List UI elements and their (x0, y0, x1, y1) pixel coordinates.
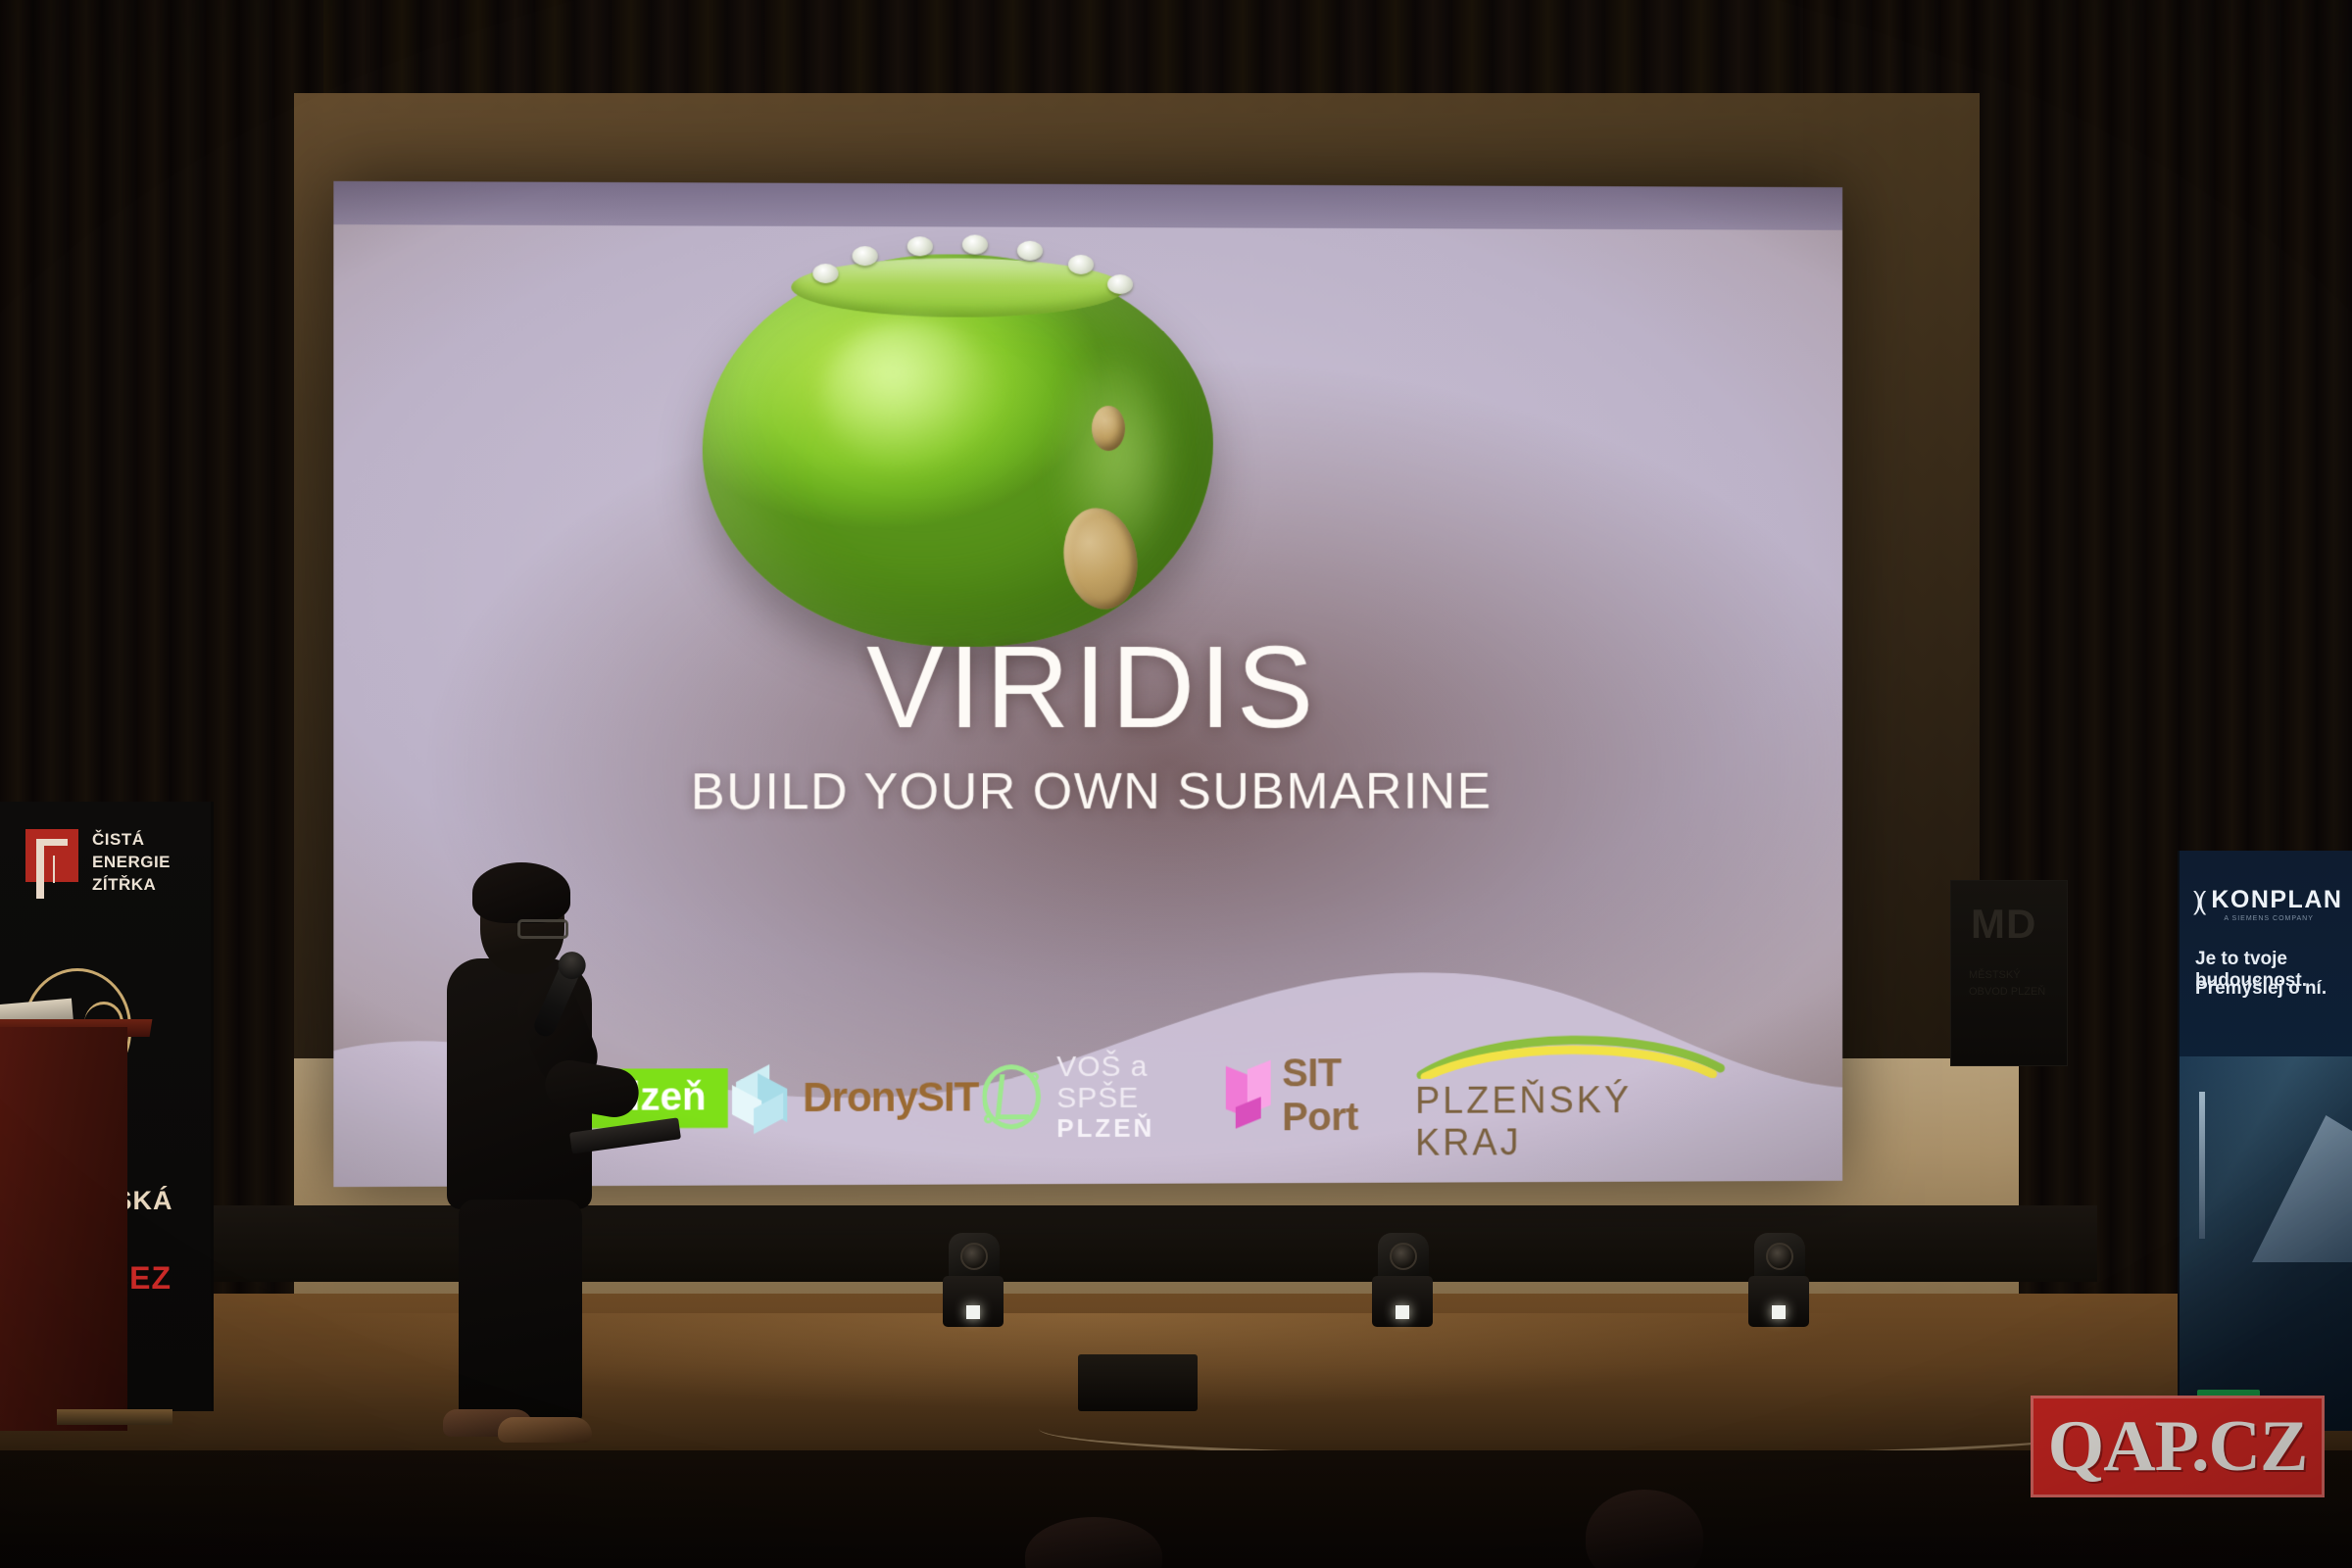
submarine-bolt-icon (853, 246, 878, 266)
sponsor-vos-spse: VOŠ a SPŠE PLZEŇ (978, 1051, 1223, 1143)
submarine-port-small-icon (1092, 406, 1125, 451)
stage-presentation-photo: VIRIDIS BUILD YOUR OWN SUBMARINE ěsto Pl… (0, 0, 2352, 1568)
sponsor-plzensky-kraj: PLZEŇSKÝ KRAJ (1415, 1025, 1726, 1165)
dronysit-word: DronySIT (803, 1073, 978, 1121)
green-yellow-arc-icon (1415, 1025, 1726, 1079)
stage-front-edge (0, 1450, 2352, 1568)
pink-cube-icon (1224, 1064, 1270, 1127)
konplan-name: KONPLAN (2211, 886, 2342, 913)
cez-slogan-line-1: ČISTÁ (92, 829, 171, 852)
wooden-podium (0, 1027, 127, 1431)
podium-base (57, 1409, 172, 1425)
plzensky-kraj-word: PLZEŇSKÝ KRAJ (1415, 1080, 1726, 1165)
submarine-highlight (822, 320, 999, 468)
sponsor-sit-port: SIT Port (1224, 1052, 1415, 1140)
md-banner: MD MĚSTSKÝ OBVOD PLZEŇ (1950, 880, 2068, 1066)
slide-subtitle: BUILD YOUR OWN SUBMARINE (333, 762, 1842, 822)
cez-logo-row: ČISTÁ ENERGIE ZÍTŘKA (25, 829, 171, 897)
vos-line-2: PLZEŇ (1056, 1114, 1224, 1143)
circuit-circle-icon (978, 1060, 1045, 1133)
presenter-legs (459, 1200, 582, 1423)
submarine-bolt-icon (812, 264, 838, 283)
glasses-icon (517, 919, 568, 939)
md-banner-name: MD (1971, 901, 2036, 948)
stage-light-mover-4 (1746, 1233, 1811, 1327)
presenter-silhouette (421, 862, 715, 1450)
sit-port-word: SIT Port (1282, 1052, 1415, 1140)
submarine-bolt-icon (962, 235, 988, 255)
konplan-rollup-banner: )( KONPLAN A SIEMENS COMPANY Je to tvoje… (2178, 851, 2352, 1431)
qap-cz-watermark: QAP.CZ (2031, 1396, 2325, 1497)
submarine-bolt-icon (1107, 274, 1133, 294)
sponsor-dronysit: DronySIT (728, 1066, 979, 1128)
watermark-text: QAP.CZ (2048, 1410, 2308, 1483)
presenter-hair (472, 862, 570, 923)
konplan-logo-row: )( KONPLAN A SIEMENS COMPANY (2193, 886, 2342, 914)
md-banner-subtitle: MĚSTSKÝ OBVOD PLZEŇ (1969, 967, 2053, 1000)
konplan-banner-photo (2180, 1056, 2352, 1431)
cez-slogan-line-3: ZÍTŘKA (92, 874, 171, 897)
submarine-bolt-icon (1017, 241, 1043, 261)
presenter-shoe-right (498, 1417, 592, 1443)
stage-light-mover-3 (1370, 1233, 1435, 1327)
stage-floor-cable (1039, 1399, 2117, 1458)
submarine-bolt-icon (1068, 255, 1094, 274)
konplan-tagline-small: A SIEMENS COMPANY (2224, 915, 2314, 922)
stage-light-mover-2 (941, 1233, 1005, 1327)
vos-text-block: VOŠ a SPŠE PLZEŇ (1056, 1051, 1224, 1142)
isometric-cube-icon (728, 1067, 791, 1128)
konplan-message-line-2: Přemýšlej o ní. (2195, 978, 2327, 1000)
konplan-mark-icon: )( (2193, 888, 2202, 913)
submarine-hero-graphic (675, 212, 1235, 655)
submarine-bolt-icon (907, 236, 933, 256)
cez-slogan-block: ČISTÁ ENERGIE ZÍTŘKA (92, 829, 171, 897)
cez-e-logo-icon (25, 829, 78, 882)
slide-title: VIRIDIS (333, 630, 1842, 747)
cez-slogan-line-2: ENERGIE (92, 852, 171, 874)
vos-line-1: VOŠ a SPŠE (1056, 1051, 1224, 1114)
